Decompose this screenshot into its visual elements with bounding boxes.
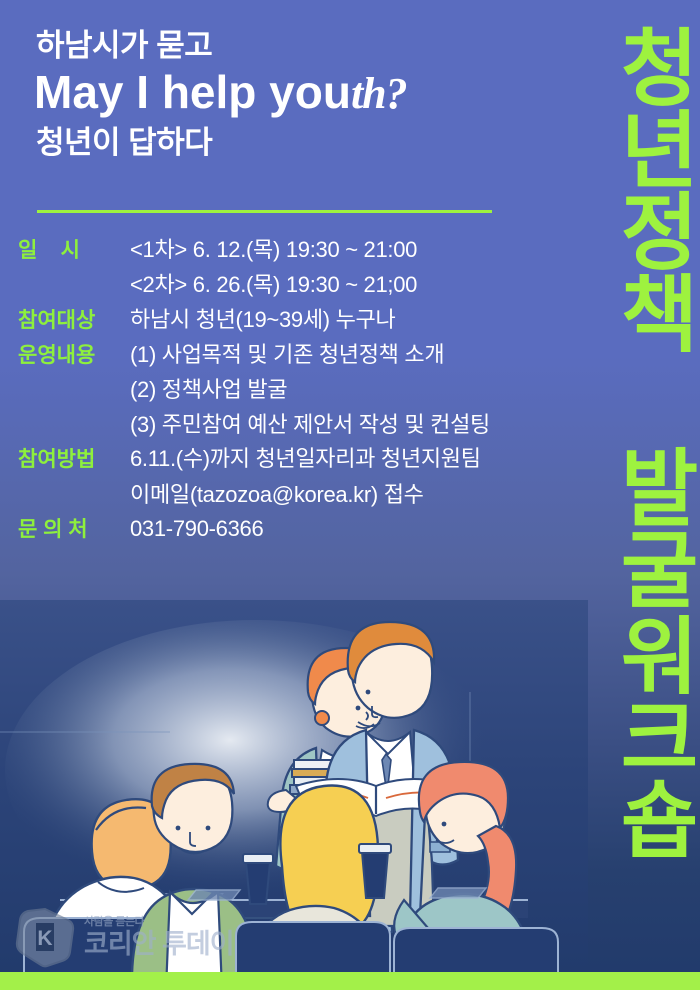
headline-english-italic: th?	[351, 69, 407, 118]
info-value: (1) 사업목적 및 기존 청년정책 소개	[130, 341, 578, 369]
headline-english: May I help youth?	[34, 67, 554, 118]
info-row: (2) 정책사업 발굴	[18, 376, 578, 404]
watermark-tagline: 사람을 듣는다	[84, 917, 234, 928]
info-row: 참여방법 6.11.(수)까지 청년일자리과 청년지원팀	[18, 445, 578, 473]
info-row: (3) 주민참여 예산 제안서 작성 및 컨설팅	[18, 411, 578, 439]
info-value: 하남시 청년(19~39세) 누구나	[130, 306, 578, 334]
info-value: <2차> 6. 26.(목) 19:30 ~ 21;00	[130, 271, 578, 299]
info-label: 참여방법	[18, 447, 130, 473]
watermark-text: 사람을 듣는다 코리안 투데이	[84, 917, 234, 958]
headline-korean-bottom: 청년이 답하다	[36, 124, 554, 161]
svg-text:K: K	[37, 927, 52, 950]
info-list: 일 시 <1차> 6. 12.(목) 19:30 ~ 21:00 <2차> 6.…	[18, 236, 578, 550]
info-row: 운영내용 (1) 사업목적 및 기존 청년정책 소개	[18, 341, 578, 369]
info-value: 이메일(tazozoa@korea.kr) 접수	[130, 481, 578, 509]
watermark-brand-name: 코리안 투데이	[84, 931, 234, 958]
footer-green-bar	[0, 972, 700, 990]
headline-block: 하남시가 묻고 May I help youth? 청년이 답하다	[34, 28, 554, 161]
vertical-title-line-2: 워크숍	[596, 612, 692, 858]
info-row: 이메일(tazozoa@korea.kr) 접수	[18, 481, 578, 509]
vertical-title-band: 청년정책 발굴 워크숍	[588, 0, 700, 990]
vertical-title-line-1: 청년정책 발굴	[596, 24, 692, 608]
info-row: 일 시 <1차> 6. 12.(목) 19:30 ~ 21:00	[18, 236, 578, 264]
poster-root: 청년정책 발굴 워크숍 하남시가 묻고 May I help youth? 청년…	[0, 0, 700, 990]
info-value: <1차> 6. 12.(목) 19:30 ~ 21:00	[130, 236, 578, 264]
info-row: <2차> 6. 26.(목) 19:30 ~ 21;00	[18, 271, 578, 299]
info-value: (2) 정책사업 발굴	[130, 376, 578, 404]
headline-korean-top: 하남시가 묻고	[36, 28, 554, 65]
info-label: 참여대상	[18, 308, 130, 334]
info-value: 031-790-6366	[130, 515, 578, 543]
green-divider-rule	[37, 210, 492, 213]
info-label: 문 의 처	[18, 517, 130, 543]
headline-english-main: May I help you	[34, 66, 351, 118]
info-value: (3) 주민참여 예산 제안서 작성 및 컨설팅	[130, 411, 578, 439]
korean-today-mark-icon: K	[14, 906, 76, 968]
info-label: 일 시	[18, 238, 130, 264]
info-label: 운영내용	[18, 343, 130, 369]
info-row: 문 의 처 031-790-6366	[18, 515, 578, 543]
info-row: 참여대상 하남시 청년(19~39세) 누구나	[18, 306, 578, 334]
watermark-logo: K 사람을 듣는다 코리안 투데이	[14, 906, 234, 968]
info-value: 6.11.(수)까지 청년일자리과 청년지원팀	[130, 445, 578, 473]
